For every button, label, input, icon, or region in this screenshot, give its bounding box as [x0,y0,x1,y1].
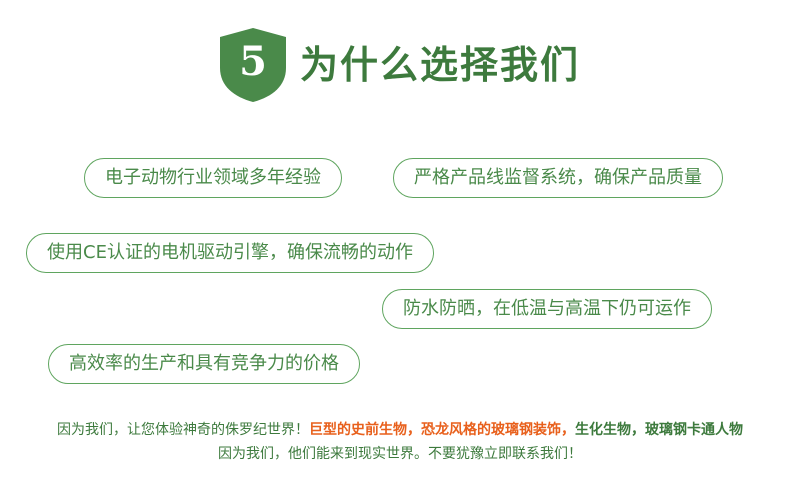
footer-line1-prefix: 因为我们，让您体验神奇的侏罗纪世界！ [57,422,309,438]
feature-pill-5: 高效率的生产和具有竞争力的价格 [48,344,360,384]
footer-line1-highlight-b: 生化生物， [575,422,645,438]
footer-line1-highlight-c: 玻璃钢卡通人物 [645,422,743,438]
badge-number: 5 [220,28,286,102]
feature-pill-3: 使用CE认证的电机驱动引擎，确保流畅的动作 [26,233,434,273]
footer-line1-highlight-a: 巨型的史前生物，恐龙风格的玻璃钢装饰， [309,422,575,438]
feature-pill-4: 防水防晒，在低温与高温下仍可运作 [382,289,712,329]
page-title: 为什么选择我们 [300,46,580,84]
feature-pill-2: 严格产品线监督系统，确保产品质量 [393,158,723,198]
footer-text: 因为我们，让您体验神奇的侏罗纪世界！巨型的史前生物，恐龙风格的玻璃钢装饰，生化生… [0,418,800,466]
shield-badge-icon: 5 [220,28,286,102]
page-header: 5 为什么选择我们 [0,28,800,102]
feature-pill-1: 电子动物行业领域多年经验 [84,158,342,198]
footer-line-2: 因为我们，他们能来到现实世界。不要犹豫立即联系我们！ [0,442,800,466]
promo-page: 5 为什么选择我们 电子动物行业领域多年经验 严格产品线监督系统，确保产品质量 … [0,0,800,485]
footer-line-1: 因为我们，让您体验神奇的侏罗纪世界！巨型的史前生物，恐龙风格的玻璃钢装饰，生化生… [0,418,800,442]
